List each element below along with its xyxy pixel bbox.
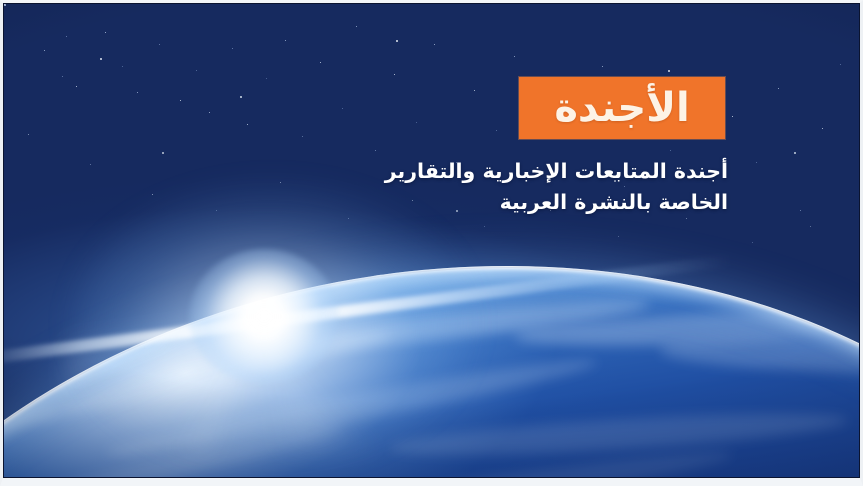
star-dot-bright: [4, 4, 6, 6]
page-title: الأجندة: [554, 88, 689, 128]
sun-core: [189, 249, 339, 384]
agenda-slide: الأجندة أجندة المتابعات الإخبارية والتقا…: [0, 0, 863, 486]
title-badge: الأجندة: [519, 77, 725, 139]
space-background: [4, 4, 859, 477]
